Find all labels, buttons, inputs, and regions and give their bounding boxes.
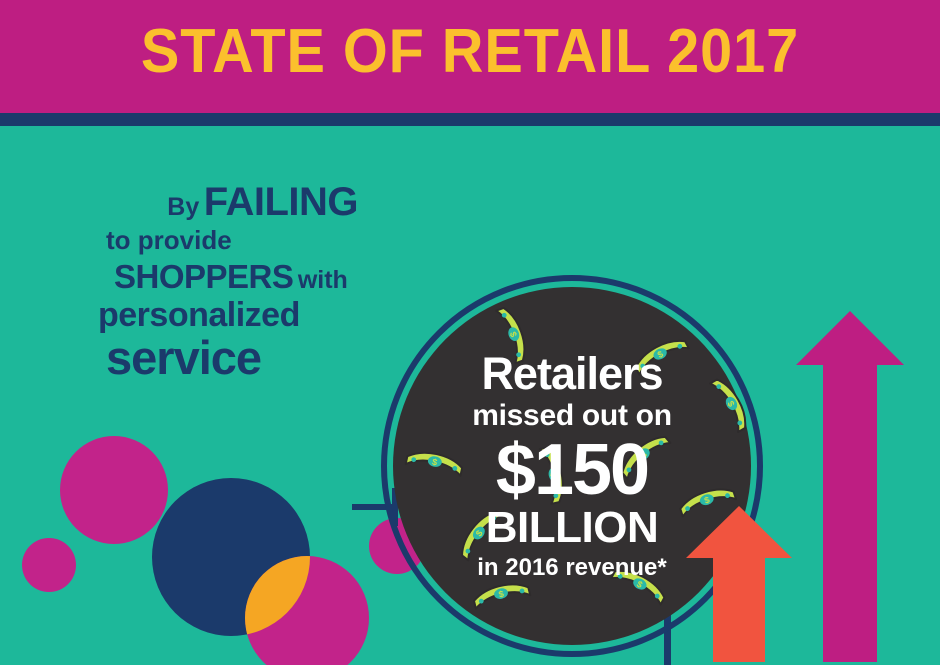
headline-to-provide: to provide	[96, 227, 386, 253]
body-background: By FAILING to provide SHOPPERS with pers…	[0, 126, 940, 665]
headline-service: service	[96, 334, 386, 381]
callout-footnote: in 2016 revenue*	[477, 555, 666, 581]
infographic-canvas: STATE OF RETAIL 2017 By FAILING to pr	[0, 0, 940, 665]
headline-line-1: By FAILING	[96, 182, 386, 222]
headline-block: By FAILING to provide SHOPPERS with pers…	[96, 182, 386, 381]
page-title: STATE OF RETAIL 2017	[33, 16, 907, 88]
headline-with: with	[298, 266, 348, 294]
headline-personalized: personalized	[96, 298, 386, 332]
headline-shoppers: SHOPPERS	[114, 258, 293, 295]
deco-lens-lower	[245, 556, 369, 665]
callout-line-retailers: Retailers	[481, 351, 662, 397]
callout-text-block: Retailers missed out on $150 BILLION in …	[393, 287, 751, 645]
arrow-up-icon	[796, 311, 904, 662]
headline-failing: FAILING	[204, 180, 358, 224]
callout-line-missed: missed out on	[472, 399, 671, 433]
deco-circle-magenta-small-left	[22, 538, 76, 592]
bar-arrow-large	[796, 311, 904, 662]
headline-by: By	[167, 193, 199, 221]
callout-unit: BILLION	[486, 505, 658, 551]
callout-amount: $150	[496, 435, 648, 505]
headline-line-3: SHOPPERS with	[96, 260, 386, 293]
header-band: STATE OF RETAIL 2017	[0, 0, 940, 113]
money-callout-circle: $ $ $ $ $ $ $ $ $ $ Retailers missed out…	[381, 275, 763, 657]
header-divider-rule	[0, 113, 940, 126]
